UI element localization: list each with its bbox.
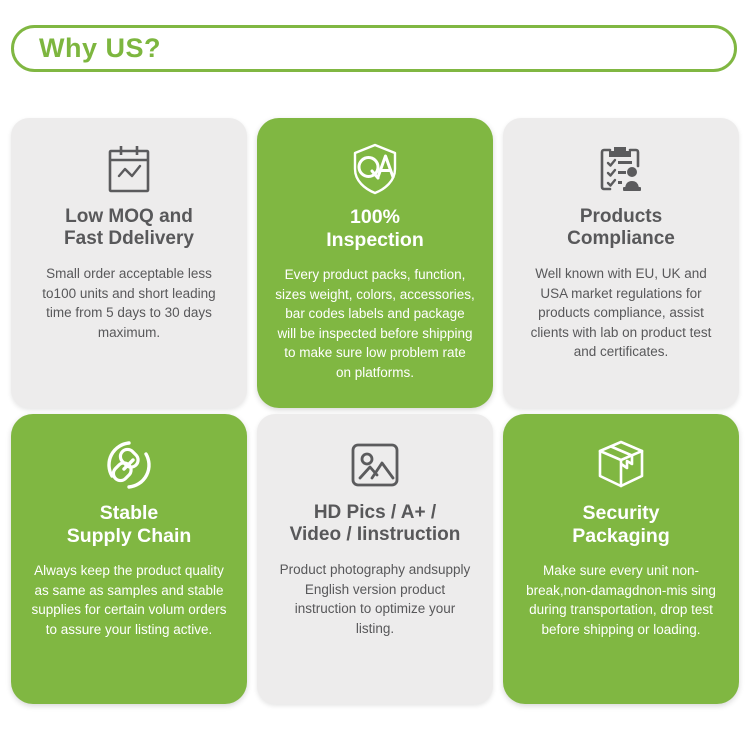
chain-link-icon: [103, 438, 155, 492]
feature-card-inspection[interactable]: 100% Inspection Every product packs, fun…: [257, 118, 493, 408]
feature-card-low-moq[interactable]: Low MOQ and Fast Ddelivery Small order a…: [11, 118, 247, 408]
card-title: Security Packaging: [572, 502, 670, 547]
qa-shield-icon: [350, 142, 400, 196]
card-title: Low MOQ and Fast Ddelivery: [64, 206, 194, 250]
package-box-icon: [594, 438, 648, 492]
why-us-infographic: Why US? Low MOQ and Fast Ddelivery Small…: [0, 0, 750, 731]
card-title: Products Compliance: [567, 206, 675, 250]
clipboard-checklist-stamp-icon: [596, 142, 646, 196]
feature-card-hd-pics[interactable]: HD Pics / A+ / Video / Iinstruction Prod…: [257, 414, 493, 704]
card-body: Small order acceptable less to100 units …: [23, 264, 235, 342]
feature-card-supply-chain[interactable]: Stable Supply Chain Always keep the prod…: [11, 414, 247, 704]
card-title: Stable Supply Chain: [67, 502, 192, 547]
card-body: Well known with EU, UK and USA market re…: [515, 264, 727, 362]
feature-card-packaging[interactable]: Security Packaging Make sure every unit …: [503, 414, 739, 704]
feature-card-grid: Low MOQ and Fast Ddelivery Small order a…: [0, 118, 750, 718]
card-body: Always keep the product quality as same …: [23, 561, 235, 639]
card-body: Product photography andsupply English ve…: [269, 560, 481, 638]
page-title: Why US?: [39, 35, 161, 62]
notepad-chart-icon: [106, 142, 152, 196]
card-body: Make sure every unit non-break,non-damag…: [515, 561, 727, 639]
image-photo-icon: [350, 438, 400, 492]
card-body: Every product packs, function, sizes wei…: [269, 265, 481, 382]
header-banner: Why US?: [11, 25, 737, 72]
card-title: HD Pics / A+ / Video / Iinstruction: [290, 502, 461, 546]
feature-card-compliance[interactable]: Products Compliance Well known with EU, …: [503, 118, 739, 408]
card-title: 100% Inspection: [326, 206, 424, 251]
